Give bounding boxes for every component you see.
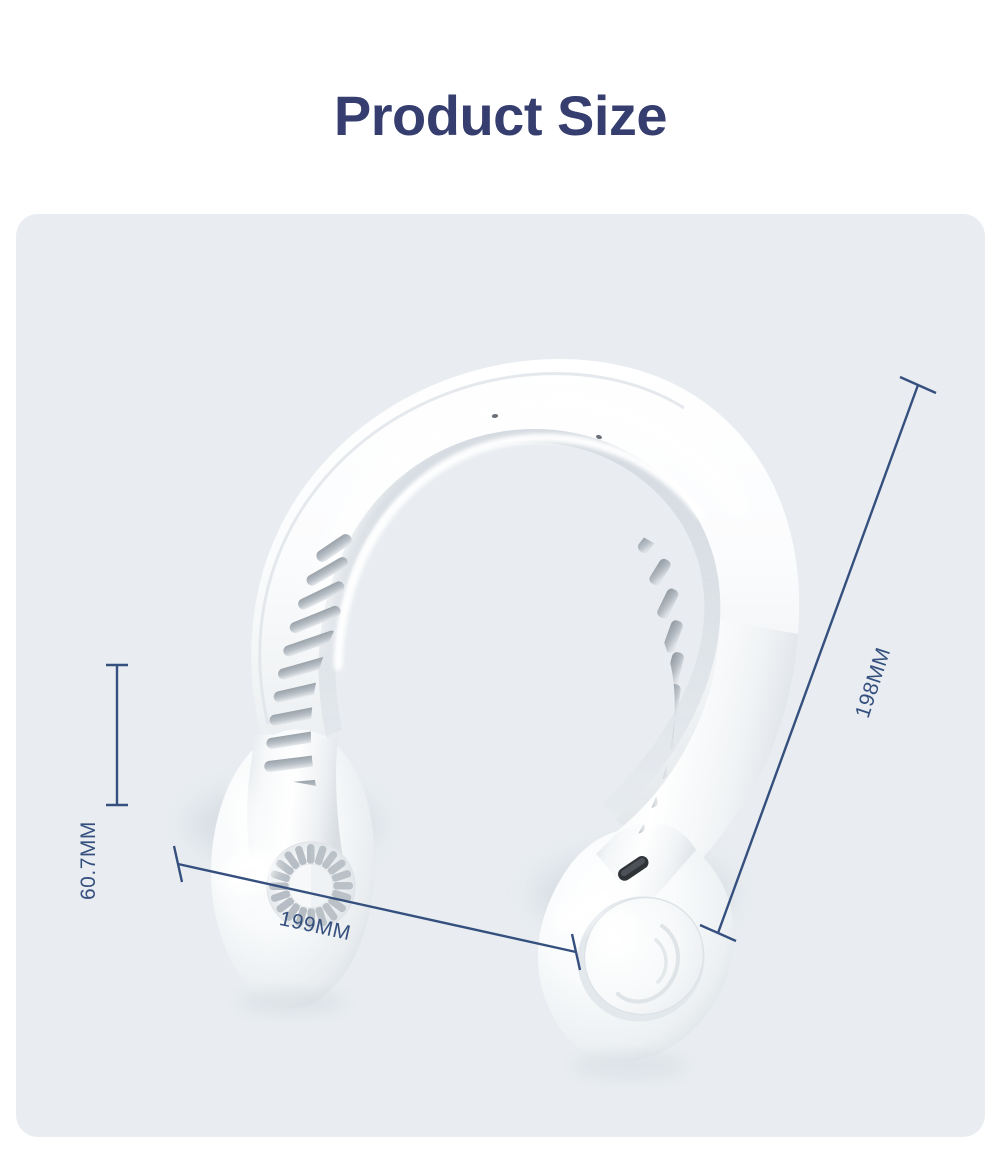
- product-size-panel: 60.7MM 199MM 198MM: [16, 214, 985, 1137]
- right-pod-contact-shadow: [574, 1053, 686, 1079]
- dimension-label-height: 60.7MM: [78, 821, 99, 900]
- page-title: Product Size: [0, 88, 1001, 144]
- product-illustration-stage: 60.7MM 199MM 198MM: [16, 214, 985, 1137]
- product-diagram-svg: [16, 214, 985, 1137]
- dimension-height-line: [106, 665, 128, 805]
- left-pod-contact-shadow: [240, 990, 344, 1014]
- neck-fan-body: [211, 359, 799, 1079]
